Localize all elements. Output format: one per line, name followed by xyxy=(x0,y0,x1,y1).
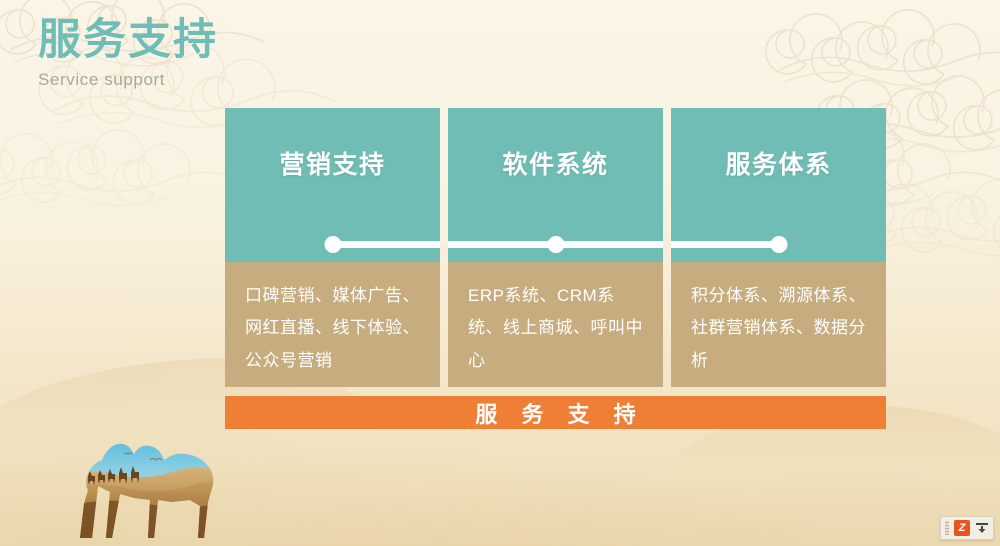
brand-logo-icon[interactable]: Z xyxy=(954,520,970,536)
column-marketing-support[interactable]: 营销支持 口碑营销、媒体广告、网红直播、线下体验、公众号营销 xyxy=(225,108,440,387)
column-body: 口碑营销、媒体广告、网红直播、线下体验、公众号营销 xyxy=(225,262,440,387)
timeline-dot-icon xyxy=(547,236,564,253)
footer-banner: 服 务 支 持 xyxy=(225,396,886,429)
connector-line xyxy=(333,241,441,248)
slide-canvas: 服务支持 Service support 营销支持 口碑营销、媒体广告、网红直播… xyxy=(0,0,1000,546)
timeline-dot-icon xyxy=(770,236,787,253)
timeline-dot-icon xyxy=(324,236,341,253)
column-service-system[interactable]: 服务体系 积分体系、溯源体系、社群营销体系、数据分析 xyxy=(671,108,886,387)
page-title: 服务支持 xyxy=(38,16,218,64)
column-heading-label: 软件系统 xyxy=(502,145,608,181)
column-heading-label: 营销支持 xyxy=(279,145,385,181)
column-heading-label: 服务体系 xyxy=(725,145,831,181)
floating-toolbar[interactable]: Z xyxy=(940,516,994,540)
timeline-connector xyxy=(448,229,663,262)
columns-container: 营销支持 口碑营销、媒体广告、网红直播、线下体验、公众号营销 软件系统 xyxy=(225,108,886,387)
column-software-system[interactable]: 软件系统 ERP系统、CRM系统、线上商城、呼叫中心 xyxy=(448,108,663,387)
camel-illustration xyxy=(62,430,232,540)
download-icon[interactable] xyxy=(975,521,989,535)
drag-handle-icon[interactable] xyxy=(945,521,949,535)
timeline-connector xyxy=(671,229,886,262)
column-header: 软件系统 xyxy=(448,108,663,229)
column-body-text: 口碑营销、媒体广告、网红直播、线下体验、公众号营销 xyxy=(245,280,420,377)
column-header: 营销支持 xyxy=(225,108,440,229)
column-body: ERP系统、CRM系统、线上商城、呼叫中心 xyxy=(448,262,663,387)
column-body-text: ERP系统、CRM系统、线上商城、呼叫中心 xyxy=(468,280,643,377)
column-body: 积分体系、溯源体系、社群营销体系、数据分析 xyxy=(671,262,886,387)
connector-line xyxy=(671,241,779,248)
column-body-text: 积分体系、溯源体系、社群营销体系、数据分析 xyxy=(691,280,866,377)
column-header: 服务体系 xyxy=(671,108,886,229)
page-heading: 服务支持 Service support xyxy=(38,16,218,90)
service-support-panel: 营销支持 口碑营销、媒体广告、网红直播、线下体验、公众号营销 软件系统 xyxy=(225,108,886,429)
page-subtitle: Service support xyxy=(38,70,218,90)
timeline-connector xyxy=(225,229,440,262)
footer-banner-label: 服 务 支 持 xyxy=(466,397,644,429)
